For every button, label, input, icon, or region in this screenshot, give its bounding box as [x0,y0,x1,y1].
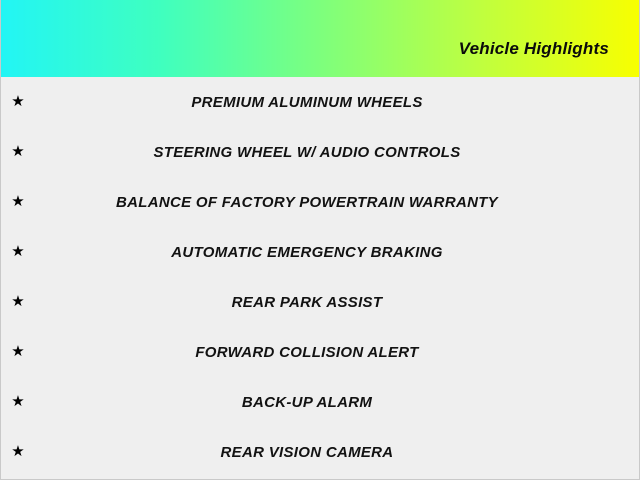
highlight-label: AUTOMATIC EMERGENCY BRAKING [1,244,639,261]
list-item: ★STEERING WHEEL W/ AUDIO CONTROLS [1,127,639,177]
highlight-label: PREMIUM ALUMINUM WHEELS [1,94,639,111]
list-item: ★BALANCE OF FACTORY POWERTRAIN WARRANTY [1,177,639,227]
highlight-label: BACK-UP ALARM [1,394,639,411]
highlight-label: REAR VISION CAMERA [1,444,639,461]
vehicle-highlights-panel: Vehicle Highlights ★PREMIUM ALUMINUM WHE… [0,0,640,480]
list-item: ★REAR VISION CAMERA [1,427,639,477]
list-item: ★BACK-UP ALARM [1,377,639,427]
star-icon: ★ [10,444,26,459]
star-icon: ★ [10,144,26,159]
list-item: ★PREMIUM ALUMINUM WHEELS [1,77,639,127]
highlight-label: REAR PARK ASSIST [1,294,639,311]
list-item: ★AUTOMATIC EMERGENCY BRAKING [1,227,639,277]
panel-header: Vehicle Highlights [0,0,640,77]
highlight-label: BALANCE OF FACTORY POWERTRAIN WARRANTY [1,194,639,211]
star-icon: ★ [10,194,26,209]
page-title: Vehicle Highlights [459,19,640,59]
highlight-label: STEERING WHEEL W/ AUDIO CONTROLS [1,144,639,161]
highlights-list: ★PREMIUM ALUMINUM WHEELS★STEERING WHEEL … [1,77,639,477]
list-item: ★FORWARD COLLISION ALERT [1,327,639,377]
star-icon: ★ [10,344,26,359]
star-icon: ★ [10,294,26,309]
list-item: ★REAR PARK ASSIST [1,277,639,327]
star-icon: ★ [10,394,26,409]
highlight-label: FORWARD COLLISION ALERT [1,344,639,361]
star-icon: ★ [10,94,26,109]
star-icon: ★ [10,244,26,259]
